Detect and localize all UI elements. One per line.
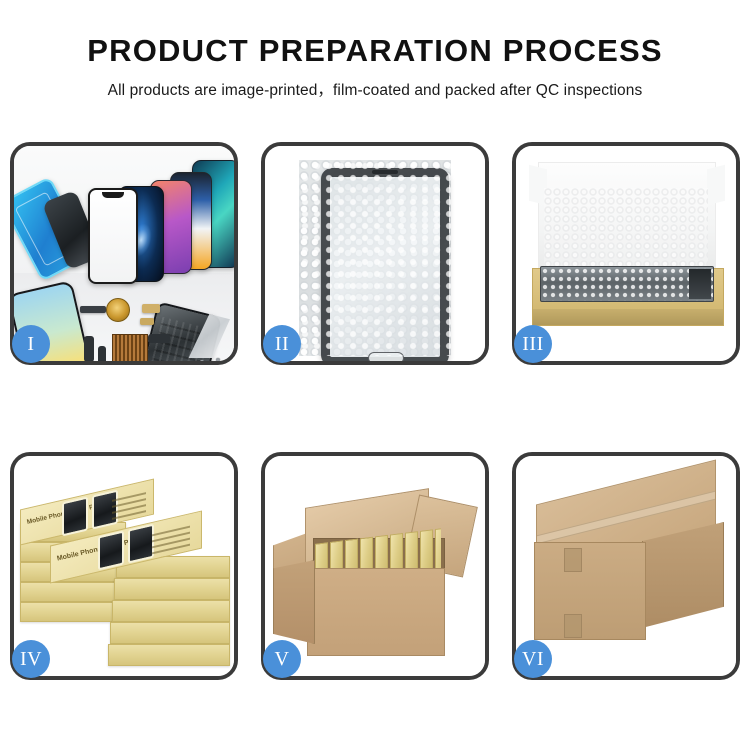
- flex-cable-part-c: [148, 334, 170, 343]
- printed-screen-image: [62, 496, 88, 536]
- step-badge-6: VI: [514, 640, 552, 678]
- kraft-box-right-4: [110, 622, 230, 644]
- flex-cable-part-a: [84, 336, 94, 361]
- open-carton-photo: [265, 456, 485, 676]
- phone-white-digitizer: [88, 188, 138, 284]
- carton-front-face: [534, 542, 646, 640]
- step-badge-1: I: [12, 325, 50, 363]
- page-subtitle: All products are image-printed，film-coat…: [0, 78, 750, 100]
- bubble-wrapped-screen-photo: [265, 146, 485, 361]
- printed-screen-image: [128, 524, 154, 564]
- kraft-box-right-3: [112, 600, 230, 622]
- process-step-panel-4: Mobile Phone Spare Parts Mobile Phone Sp…: [10, 452, 238, 680]
- carton-side-face: [273, 560, 315, 644]
- process-step-panel-6: VI: [512, 452, 740, 680]
- step-badge-2: II: [263, 325, 301, 363]
- process-step-panel-1: I: [10, 142, 238, 365]
- stacked-boxes-photo: Mobile Phone Spare Parts Mobile Phone Sp…: [14, 456, 234, 676]
- phone-parts-photo: [14, 146, 234, 361]
- phone-screen-glass: [321, 168, 449, 361]
- wrapped-screen-in-box: [540, 266, 714, 302]
- carton-front-face: [307, 568, 445, 656]
- page-header: PRODUCT PREPARATION PROCESS All products…: [0, 0, 750, 100]
- sealed-carton-photo: [516, 456, 736, 676]
- page-title: PRODUCT PREPARATION PROCESS: [0, 34, 750, 68]
- earpiece-part: [80, 306, 106, 313]
- carton-tape-upper: [564, 548, 582, 572]
- step-badge-4: IV: [12, 640, 50, 678]
- box-stack: Mobile Phone Spare Parts Mobile Phone Sp…: [20, 470, 232, 670]
- screen-in-open-box-photo: [516, 146, 736, 361]
- foam-padding: [544, 188, 708, 268]
- process-step-panel-5: V: [261, 452, 489, 680]
- process-step-panel-2: II: [261, 142, 489, 365]
- carton-tape-lower: [564, 614, 582, 638]
- kraft-box-left-4: [20, 582, 126, 602]
- speaker-coil-part: [106, 298, 130, 322]
- step-badge-5: V: [263, 640, 301, 678]
- printed-screen-image: [98, 530, 124, 570]
- kraft-box-left-5: [20, 602, 126, 622]
- process-step-panel-3: III: [512, 142, 740, 365]
- process-step-grid: I II III: [10, 142, 740, 680]
- screw-part-c: [216, 358, 220, 361]
- screw-part-a: [200, 360, 204, 361]
- small-flex-part: [140, 318, 154, 325]
- step-badge-3: III: [514, 325, 552, 363]
- camera-flex-part: [142, 304, 160, 313]
- connector-array-part: [112, 334, 148, 361]
- kraft-box-right-2: [114, 578, 230, 600]
- kraft-box-right-5: [108, 644, 230, 666]
- flex-cable-part-b: [98, 346, 106, 361]
